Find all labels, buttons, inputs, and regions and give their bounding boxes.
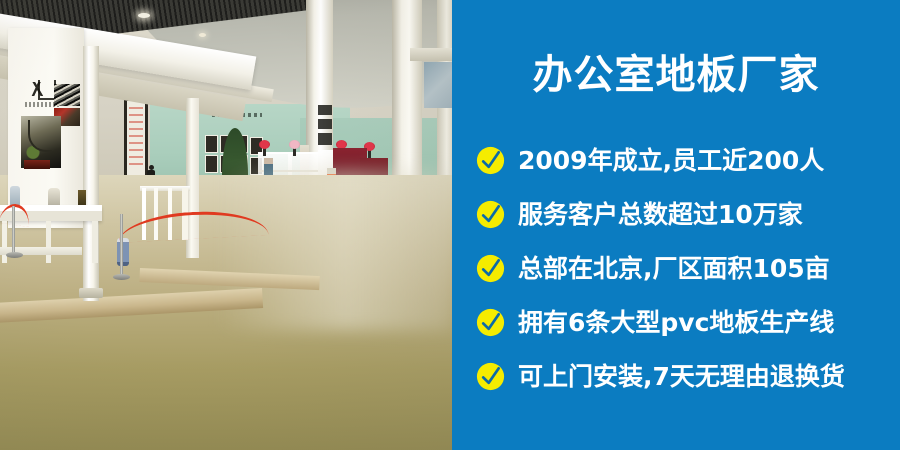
scroll-pattern <box>129 107 143 167</box>
exhibit-sculpture <box>78 190 86 206</box>
exhibition-hall-photo <box>0 0 452 450</box>
list-item: 2009年成立,员工近200人 <box>476 133 894 187</box>
check-circle-icon <box>476 308 505 337</box>
product-banner: 办公室地板厂家 2009年成立,员工近200人 服务客户总数超过10万家 总部在… <box>0 0 900 450</box>
list-item-label: 可上门安装,7天无理由退换货 <box>518 364 845 389</box>
right-window-glass <box>424 62 452 108</box>
check-circle-icon <box>476 146 505 175</box>
poster-vase <box>24 160 50 169</box>
list-item: 服务客户总数超过10万家 <box>476 187 894 241</box>
list-item: 拥有6条大型pvc地板生产线 <box>476 295 894 349</box>
ceiling-light-icon <box>138 13 150 18</box>
list-item: 可上门安装,7天无理由退换货 <box>476 349 894 403</box>
list-item-label: 总部在北京,厂区面积105亩 <box>518 256 830 281</box>
info-panel: 办公室地板厂家 2009年成立,员工近200人 服务客户总数超过10万家 总部在… <box>452 0 900 450</box>
list-item-label: 服务客户总数超过10万家 <box>518 202 803 227</box>
page-title: 办公室地板厂家 <box>452 55 900 95</box>
check-circle-icon <box>476 200 505 229</box>
red-flower-1 <box>259 140 270 149</box>
list-item-label: 2009年成立,员工近200人 <box>518 148 824 173</box>
poster-photo-1 <box>54 84 80 106</box>
pavilion-column-base <box>79 288 103 298</box>
feature-list: 2009年成立,员工近200人 服务客户总数超过10万家 总部在北京,厂区面积1… <box>476 133 894 403</box>
stanchion-base-2 <box>6 252 23 258</box>
check-circle-icon <box>476 254 505 283</box>
ceiling-light-icon-2 <box>199 33 206 37</box>
pink-flower-1 <box>289 140 300 149</box>
stanchion-base-1 <box>113 274 130 280</box>
wall-calligraphy <box>318 105 332 153</box>
stanchion-post-1 <box>120 214 123 276</box>
check-circle-icon <box>476 362 505 391</box>
stanchion-post-2 <box>12 206 15 254</box>
list-item-label: 拥有6条大型pvc地板生产线 <box>518 310 834 335</box>
list-item: 总部在北京,厂区面积105亩 <box>476 241 894 295</box>
right-beam <box>410 48 452 61</box>
exhibit-lamp <box>48 188 60 206</box>
